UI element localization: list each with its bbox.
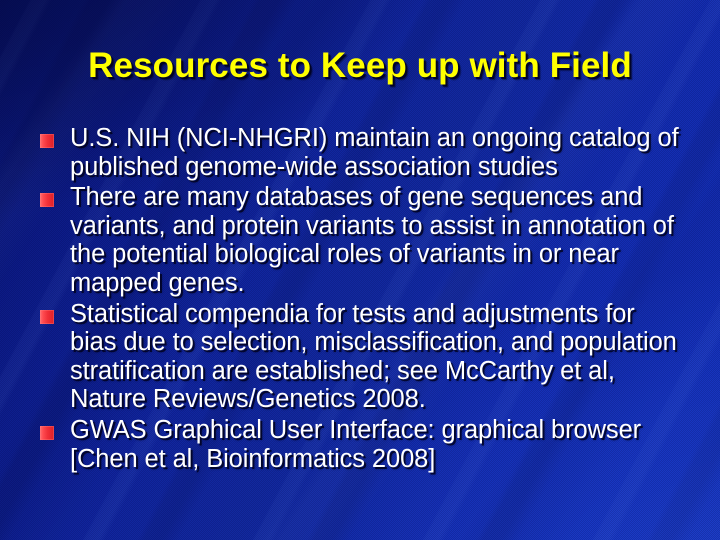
list-item: U.S. NIH (NCI-NHGRI) maintain an ongoing… — [36, 124, 688, 181]
list-item: GWAS Graphical User Interface: graphical… — [36, 416, 688, 473]
slide-bullet-list: U.S. NIH (NCI-NHGRI) maintain an ongoing… — [36, 124, 688, 475]
list-item-text: GWAS Graphical User Interface: graphical… — [70, 416, 688, 473]
list-item-text: U.S. NIH (NCI-NHGRI) maintain an ongoing… — [70, 124, 688, 181]
square-bullet-icon — [40, 426, 54, 440]
list-item: There are many databases of gene sequenc… — [36, 183, 688, 297]
square-bullet-icon — [40, 193, 54, 207]
presentation-slide: Resources to Keep up with Field U.S. NIH… — [0, 0, 720, 540]
square-bullet-icon — [40, 310, 54, 324]
list-item-text: Statistical compendia for tests and adju… — [70, 300, 688, 414]
slide-title: Resources to Keep up with Field — [0, 46, 720, 86]
square-bullet-icon — [40, 134, 54, 148]
list-item-text: There are many databases of gene sequenc… — [70, 183, 688, 297]
list-item: Statistical compendia for tests and adju… — [36, 300, 688, 414]
